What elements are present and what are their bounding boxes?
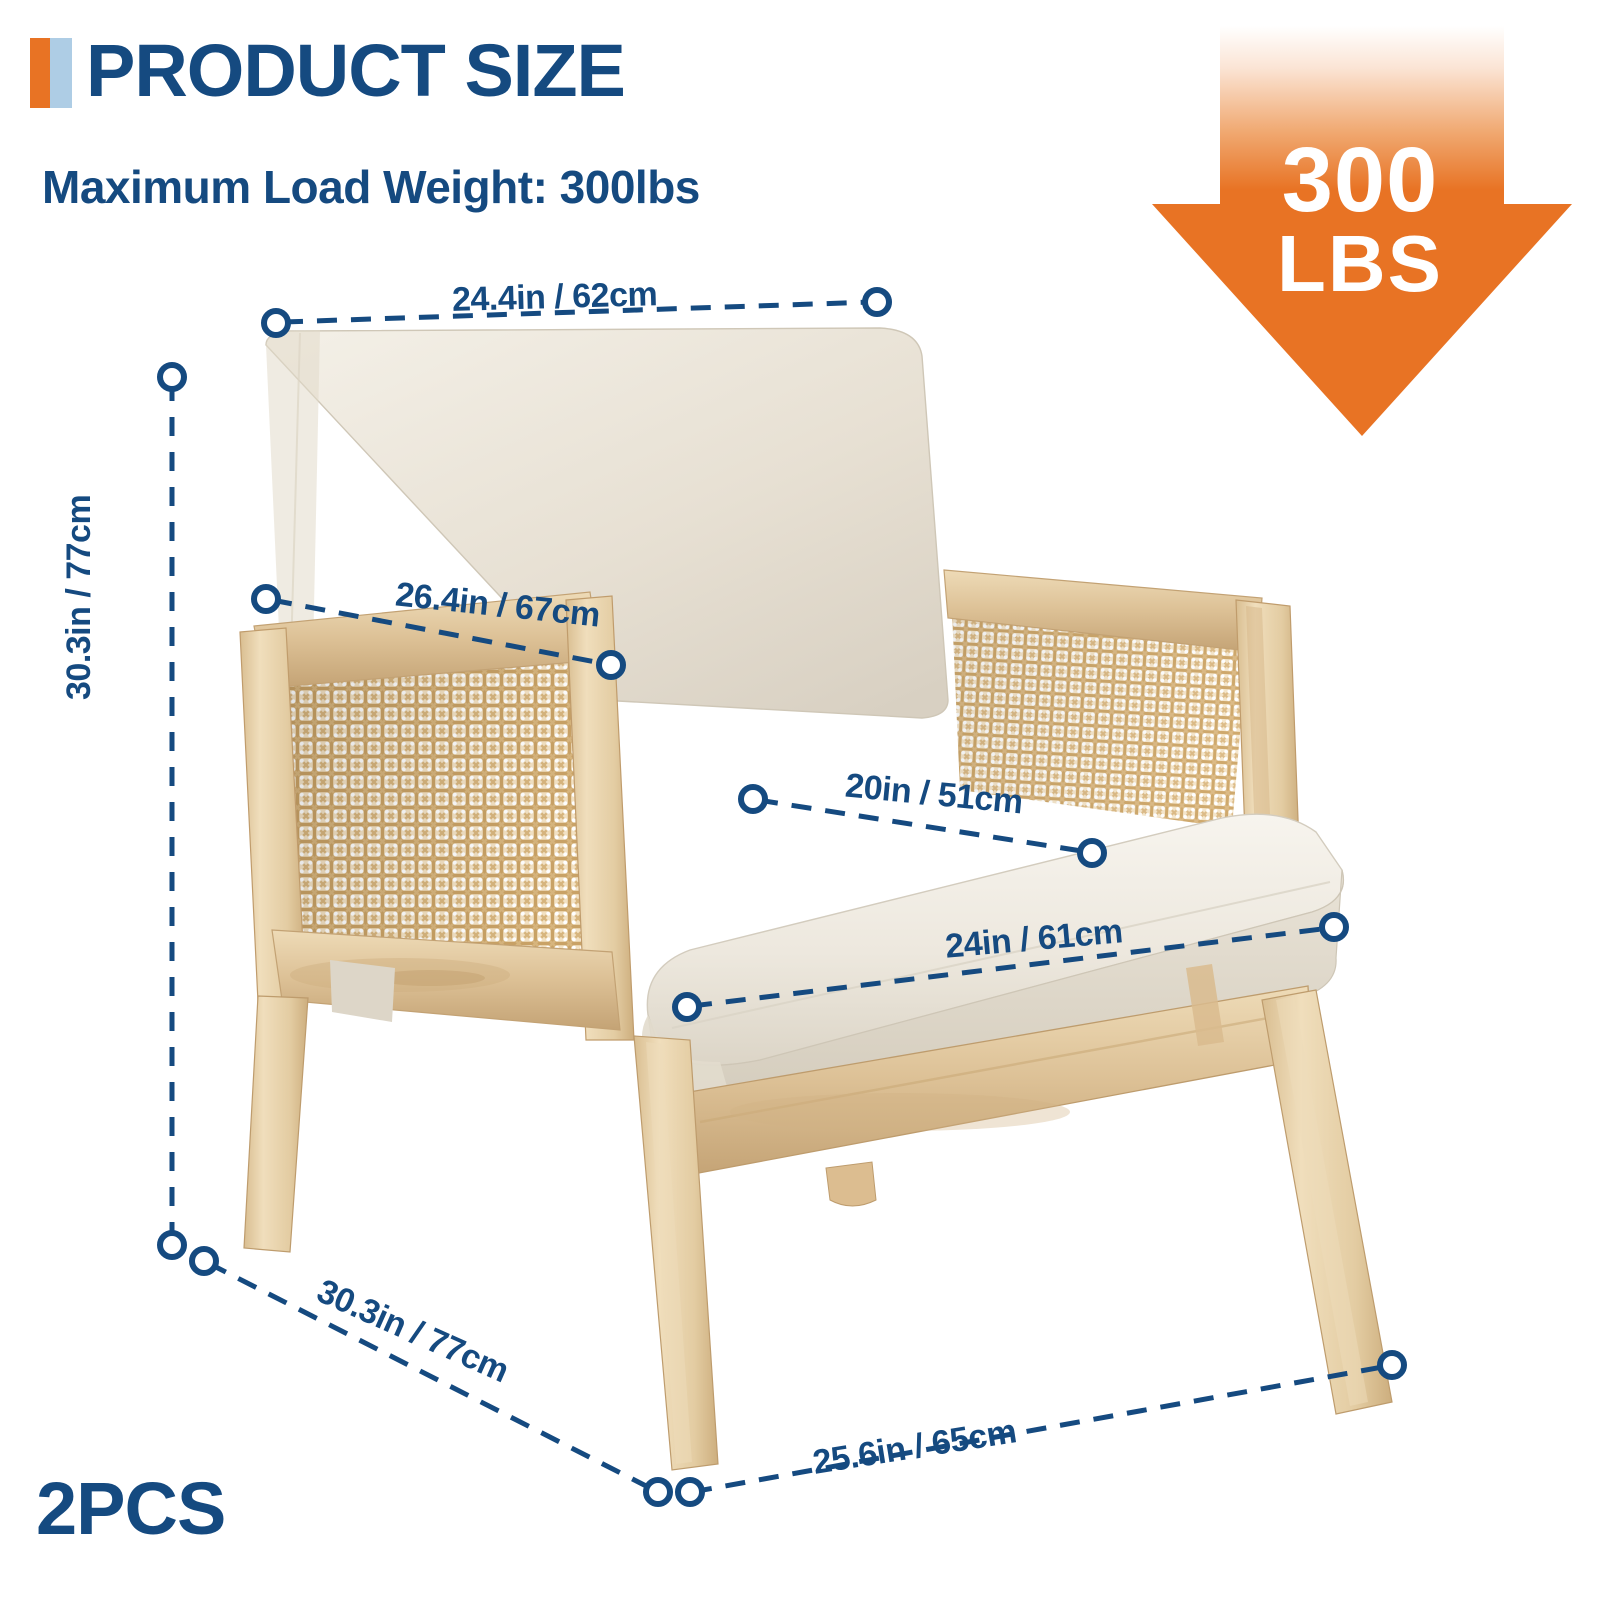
dimension-lines: [0, 0, 1600, 1600]
quantity-label: 2PCS: [36, 1466, 225, 1551]
dimension-label-overall-height: 30.3in / 77cm: [60, 495, 99, 700]
dimension-label-backrest-width: 24.4in / 62cm: [451, 275, 657, 320]
product-size-infographic: PRODUCT SIZE Maximum Load Weight: 300lbs…: [0, 0, 1600, 1600]
